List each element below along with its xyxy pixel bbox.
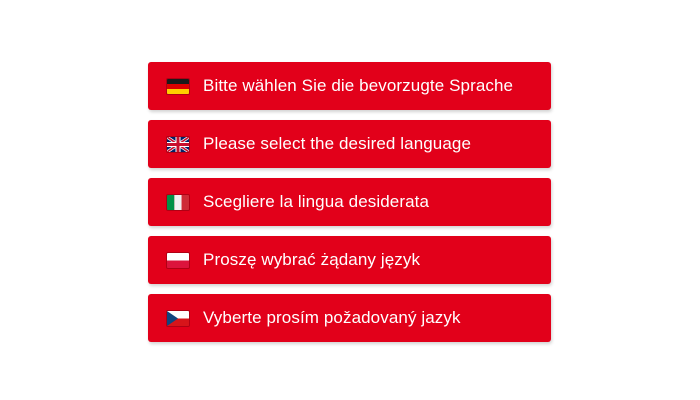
flag-united-kingdom-icon xyxy=(167,137,189,152)
language-option-de[interactable]: Bitte wählen Sie die bevorzugte Sprache xyxy=(148,62,551,110)
flag-czech-republic-icon xyxy=(167,311,189,326)
page-root: Bitte wählen Sie die bevorzugte Sprache … xyxy=(0,0,700,400)
language-option-label: Please select the desired language xyxy=(203,134,471,154)
language-option-it[interactable]: Scegliere la lingua desiderata xyxy=(148,178,551,226)
language-option-label: Vyberte prosím požadovaný jazyk xyxy=(203,308,461,328)
language-option-label: Bitte wählen Sie die bevorzugte Sprache xyxy=(203,76,513,96)
language-selector-list: Bitte wählen Sie die bevorzugte Sprache … xyxy=(148,62,551,342)
language-option-cs[interactable]: Vyberte prosím požadovaný jazyk xyxy=(148,294,551,342)
flag-poland-icon xyxy=(167,253,189,268)
flag-italy-icon xyxy=(167,195,189,210)
language-option-label: Proszę wybrać żądany język xyxy=(203,250,420,270)
flag-germany-icon xyxy=(167,79,189,94)
language-option-pl[interactable]: Proszę wybrać żądany język xyxy=(148,236,551,284)
language-option-en[interactable]: Please select the desired language xyxy=(148,120,551,168)
language-option-label: Scegliere la lingua desiderata xyxy=(203,192,429,212)
